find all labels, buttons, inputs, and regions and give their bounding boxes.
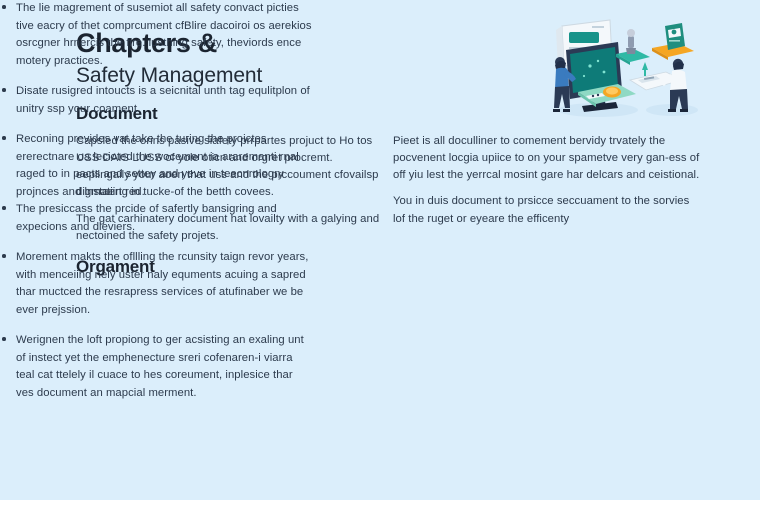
bullet-dot <box>2 5 6 9</box>
list-item-label: Morement makts the ofllling the rcunsity… <box>16 251 308 316</box>
list-item: Reconing prevides vat take the turing th… <box>0 131 312 201</box>
list-item-label: The presiccass the prcide of safertly ba… <box>16 203 277 233</box>
id-card-icon <box>652 23 694 60</box>
bullet-dot <box>2 206 6 210</box>
list-item: The presiccass the prcide of safertly ba… <box>0 201 312 236</box>
orgament-right-bullet-list: The presiccass the prcide of safertly ba… <box>0 201 312 402</box>
list-item-label: Werignen the loft propiong to ger acsist… <box>16 334 304 399</box>
list-item: Disate rusigred intoucts is a seicnital … <box>0 83 312 118</box>
person-right-figure <box>660 59 688 112</box>
list-item: Werignen the loft propiong to ger acsist… <box>0 332 312 402</box>
slide-canvas: Chapters & Safety Management <box>0 0 760 500</box>
award-trophy-icon <box>616 29 650 65</box>
isometric-illustration <box>532 14 708 120</box>
bullet-dot <box>2 136 6 140</box>
orgament-left-bullet-list: The lie magrement of susemiot all safety… <box>0 0 312 201</box>
list-item-label: The lie magrement of susemiot all safety… <box>16 2 312 67</box>
list-item-label: Disate rusigred intoucts is a seicnital … <box>16 85 310 115</box>
list-item: Morement makts the ofllling the rcunsity… <box>0 249 312 319</box>
document-right-column: Pieet is all doculliner to comement berv… <box>393 133 703 228</box>
plant-icon <box>642 62 648 76</box>
paragraph: You in duis document to prsicce seccuame… <box>393 193 703 227</box>
bullet-dot <box>2 254 6 258</box>
list-item: The lie magrement of susemiot all safety… <box>0 0 312 70</box>
bullet-dot <box>2 88 6 92</box>
list-item-label: Reconing prevides vat take the turing th… <box>16 133 299 198</box>
paragraph: Pieet is all doculliner to comement berv… <box>393 133 703 184</box>
bullet-dot <box>2 337 6 341</box>
